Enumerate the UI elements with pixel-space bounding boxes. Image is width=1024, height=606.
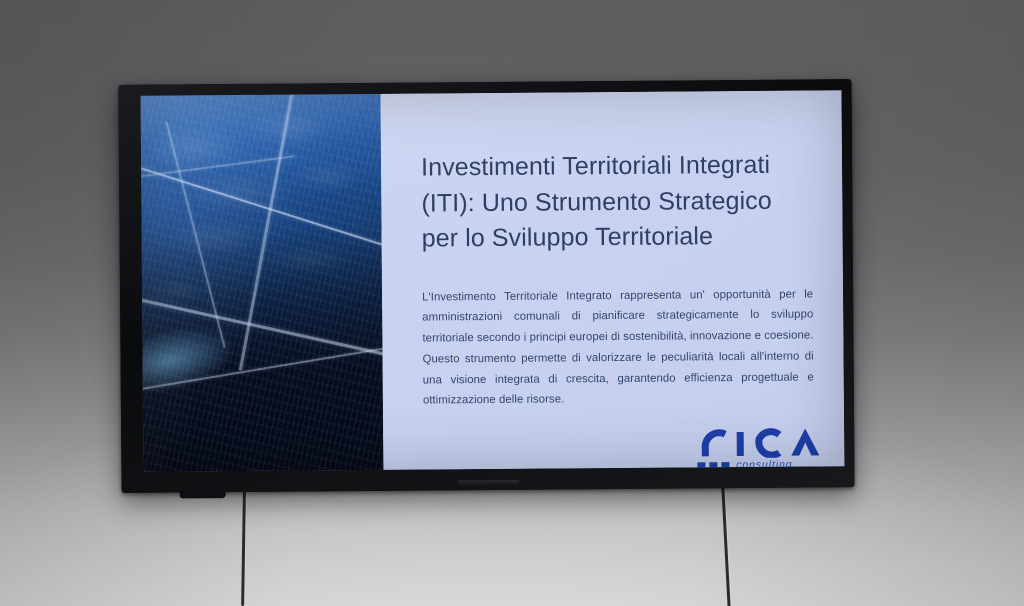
cisa-wordmark-icon bbox=[695, 424, 823, 458]
slide-title: Investimenti Territoriali Integrati (ITI… bbox=[421, 148, 811, 258]
presentation-slide: Investimenti Territoriali Integrati (ITI… bbox=[140, 90, 844, 471]
cisa-consulting-logo: consulting bbox=[695, 424, 823, 471]
power-cable-right bbox=[707, 487, 737, 606]
wall-mounted-tv[interactable]: Investimenti Territoriali Integrati (ITI… bbox=[118, 79, 854, 493]
slide-body-paragraph: L'Investimento Territoriale Integrato ra… bbox=[422, 284, 814, 412]
tv-mount-notch bbox=[180, 491, 226, 498]
room-scene: Investimenti Territoriali Integrati (ITI… bbox=[0, 0, 1024, 606]
photo-highlight-texture bbox=[140, 94, 383, 472]
aerial-satellite-photograph bbox=[140, 94, 383, 472]
slide-content-panel: Investimenti Territoriali Integrati (ITI… bbox=[381, 90, 845, 470]
tv-screen: Investimenti Territoriali Integrati (ITI… bbox=[140, 90, 844, 471]
ir-sensor-icon bbox=[457, 480, 519, 485]
